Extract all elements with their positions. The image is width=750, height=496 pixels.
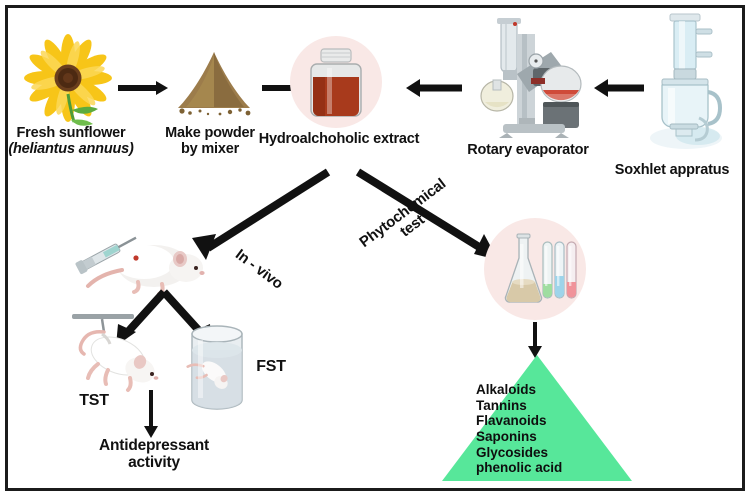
tst-illustration (68, 312, 174, 396)
constituent-tannins: Tannins (476, 398, 616, 414)
fst-illustration (186, 326, 248, 410)
constituents-list: Alkaloids Tannins Flavanoids Saponins Gl… (476, 382, 616, 476)
diagram-canvas: Fresh sunflower (heliantus annuus) Make … (0, 0, 750, 496)
arrow-soxhlet-to-rotary (594, 79, 644, 97)
label-antidepressant-line1: Antidepressant (68, 438, 240, 455)
constituent-alkaloids: Alkaloids (476, 382, 616, 398)
label-tst: TST (64, 392, 124, 409)
label-make-powder-line1: Make powder (150, 126, 270, 142)
sunflower-illustration (22, 38, 118, 128)
label-fresh-sunflower: Fresh sunflower (heliantus annuus) (0, 126, 142, 157)
label-make-powder-line2: by mixer (150, 142, 270, 158)
rotary-evaporator-illustration (473, 18, 581, 138)
label-rotary-evaporator: Rotary evaporator (445, 143, 611, 159)
label-hydroalcoholic-extract: Hydroalchoholic extract (256, 132, 422, 148)
label-fresh-sunflower-line1: Fresh sunflower (0, 126, 142, 142)
phytochemical-glassware-illustration (497, 232, 577, 308)
constituent-phenolic-acid: phenolic acid (476, 460, 616, 476)
constituent-saponins: Saponins (476, 429, 616, 445)
powder-illustration (172, 48, 256, 118)
label-antidepressant-activity: Antidepressant activity (68, 438, 240, 471)
constituent-flavanoids: Flavanoids (476, 413, 616, 429)
arrow-rotary-to-extract (406, 79, 462, 97)
label-make-powder: Make powder by mixer (150, 126, 270, 157)
arrow-sunflower-to-powder (118, 80, 168, 96)
hydroalcoholic-extract-jar (305, 46, 367, 120)
label-soxhlet-apparatus: Soxhlet appratus (602, 163, 742, 179)
arrow-to-constituents-triangle (527, 322, 543, 358)
label-fresh-sunflower-line2: (heliantus annuus) (0, 142, 142, 158)
label-antidepressant-line2: activity (68, 455, 240, 472)
soxhlet-apparatus-illustration (646, 12, 738, 152)
arrow-to-antidepressant-activity (143, 390, 159, 438)
constituent-glycosides: Glycosides (476, 445, 616, 461)
label-fst: FST (244, 358, 298, 375)
